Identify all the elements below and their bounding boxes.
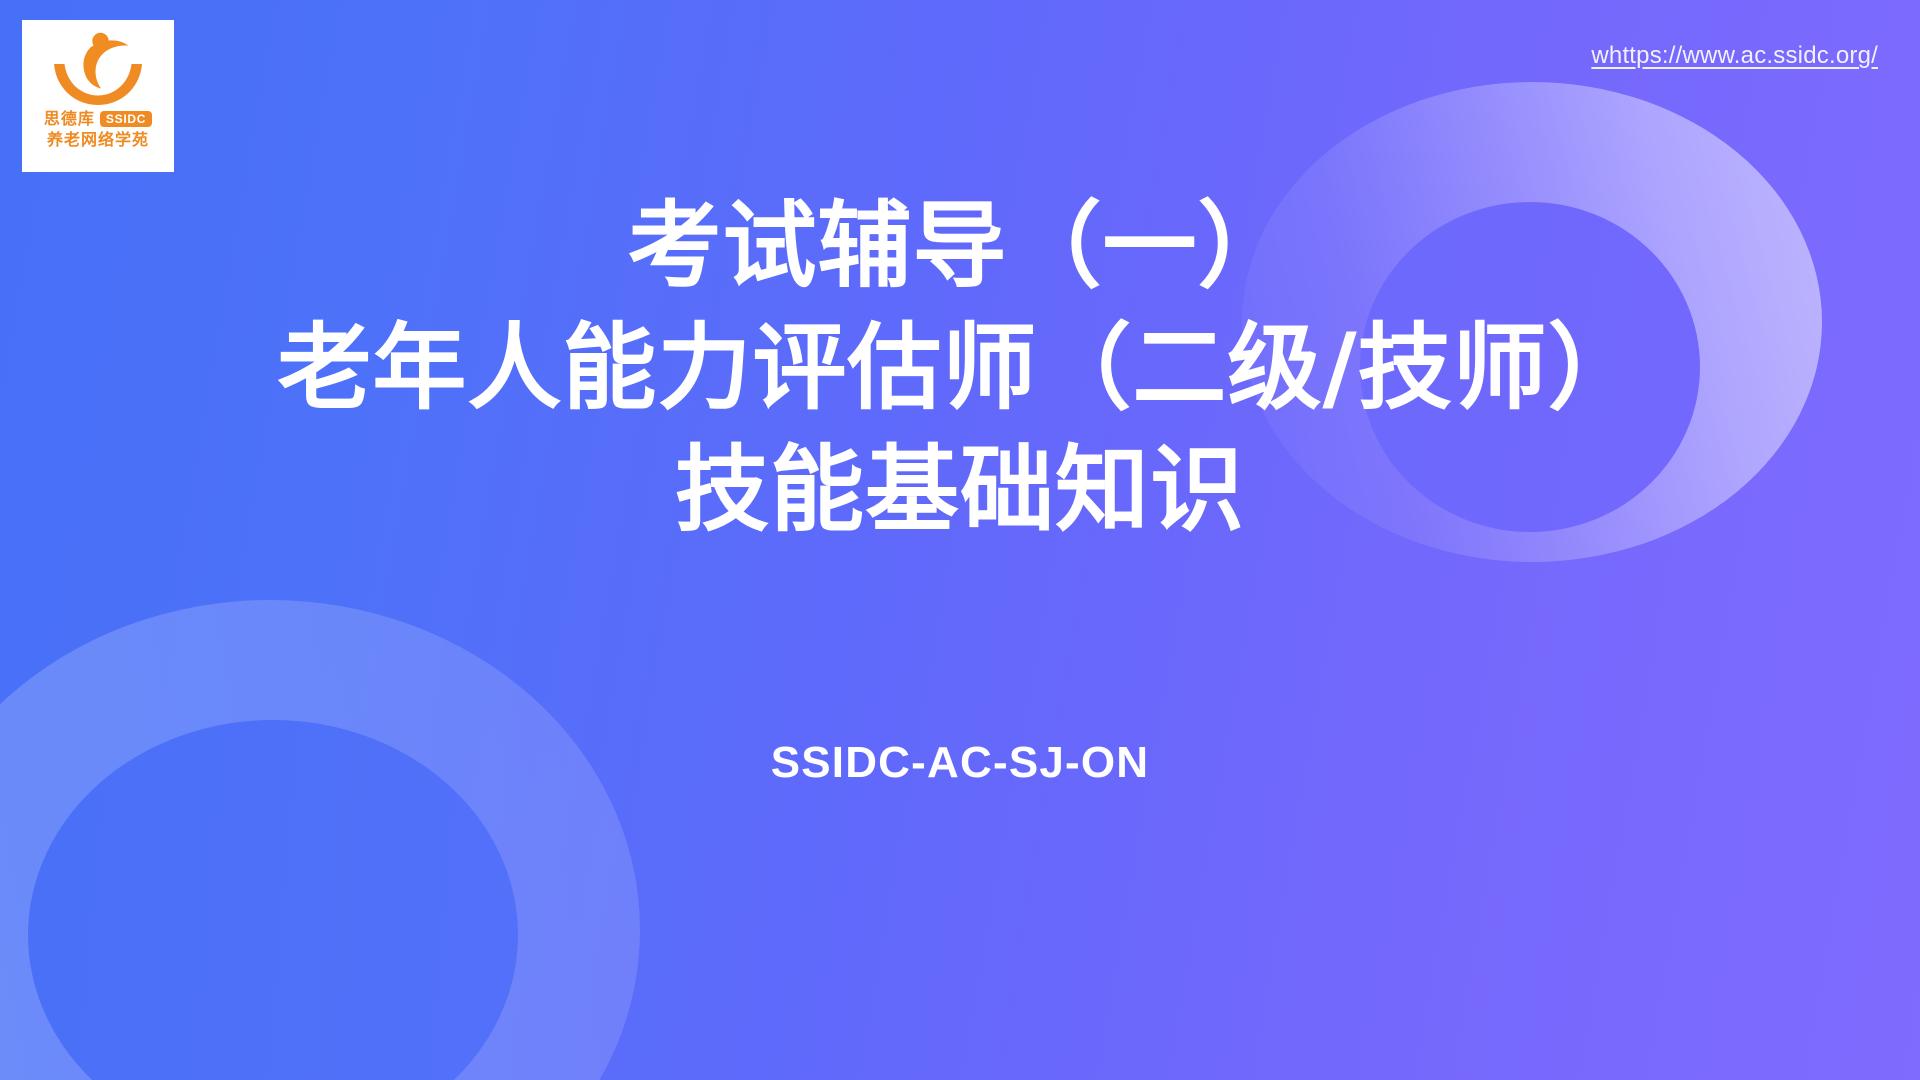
- decorative-ring-bottom-left: [0, 600, 640, 1080]
- person-arc-logo-icon: [43, 28, 153, 110]
- logo-brand-badge: SSIDC: [100, 111, 152, 127]
- page-title: 考试辅导（一） 老年人能力评估师（二级/技师） 技能基础知识: [0, 186, 1920, 552]
- logo-brand-cn: 思德库: [44, 111, 95, 127]
- logo-brand-sub-cn: 养老网络学苑: [47, 132, 149, 148]
- title-slide: 思德库 SSIDC 养老网络学苑 whttps://www.ac.ssidc.o…: [0, 0, 1920, 1080]
- site-url-link[interactable]: whttps://www.ac.ssidc.org/: [1591, 42, 1878, 70]
- title-line-1: 考试辅导（一）: [0, 186, 1920, 308]
- title-line-3: 技能基础知识: [0, 430, 1920, 552]
- title-line-2: 老年人能力评估师（二级/技师）: [0, 308, 1920, 430]
- logo-primary-line: 思德库 SSIDC: [44, 111, 152, 127]
- course-code: SSIDC-AC-SJ-ON: [0, 738, 1920, 788]
- brand-logo: 思德库 SSIDC 养老网络学苑: [22, 20, 174, 172]
